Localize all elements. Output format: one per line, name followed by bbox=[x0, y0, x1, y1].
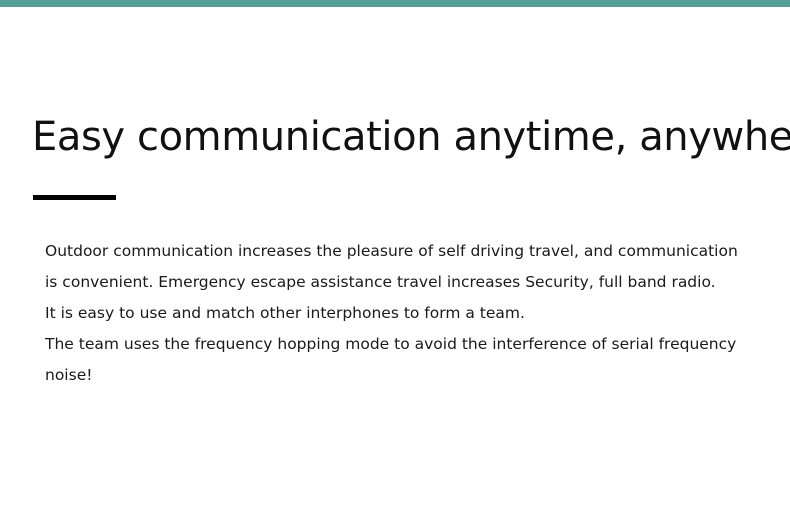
body-paragraph-3: The team uses the frequency hopping mode… bbox=[45, 329, 745, 391]
body-paragraph-1: Outdoor communication increases the plea… bbox=[45, 236, 745, 298]
body-paragraph-2: It is easy to use and match other interp… bbox=[45, 298, 745, 329]
heading-underline-rule bbox=[33, 195, 116, 200]
body-copy: Outdoor communication increases the plea… bbox=[45, 236, 745, 391]
page-title: Easy communication anytime, anywhere bbox=[32, 113, 790, 162]
top-accent-bar bbox=[0, 0, 790, 7]
slide-canvas: Easy communication anytime, anywhere Out… bbox=[0, 0, 790, 505]
